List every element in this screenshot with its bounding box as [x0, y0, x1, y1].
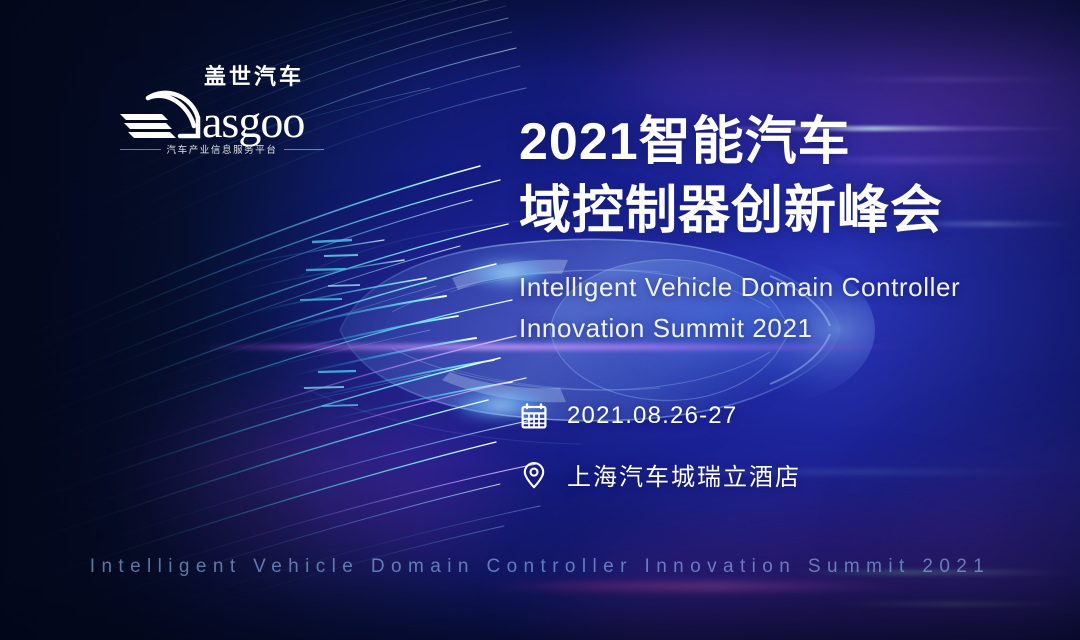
location-pin-icon — [519, 460, 549, 490]
footer-watermark: Intelligent Vehicle Domain Controller In… — [0, 556, 1080, 578]
event-content: 2021智能汽车 域控制器创新峰会 Intelligent Vehicle Do… — [519, 108, 1059, 492]
logo-tagline-text: 汽车产业信息服务平台 — [167, 142, 278, 156]
event-title-cn: 2021智能汽车 域控制器创新峰会 — [519, 108, 1059, 245]
event-venue-row: 上海汽车城瑞立酒店 — [519, 457, 1059, 492]
event-banner: 盖世汽车 asgoo 汽车产业信息服务平台 — [0, 0, 1080, 640]
gasgoo-speed-g-icon: asgoo — [118, 84, 326, 142]
event-venue-text: 上海汽车城瑞立酒店 — [567, 457, 801, 492]
tagline-rule-right — [284, 149, 325, 150]
event-title-en: Intelligent Vehicle Domain Controller In… — [519, 267, 1059, 349]
title-en-line2: Innovation Summit 2021 — [519, 308, 1059, 349]
title-cn-line2: 域控制器创新峰会 — [519, 177, 1059, 246]
logo-tagline: 汽车产业信息服务平台 — [120, 142, 324, 156]
event-meta: 2021.08.26-27 上海汽车城瑞立酒店 — [519, 401, 1059, 492]
title-en-line1: Intelligent Vehicle Domain Controller — [519, 272, 960, 302]
calendar-icon — [519, 401, 549, 431]
tagline-rule-left — [120, 149, 161, 150]
event-date-text: 2021.08.26-27 — [567, 402, 737, 430]
event-date-row: 2021.08.26-27 — [519, 401, 1059, 431]
svg-text:asgoo: asgoo — [202, 96, 304, 147]
title-cn-line1: 2021智能汽车 — [519, 113, 851, 171]
